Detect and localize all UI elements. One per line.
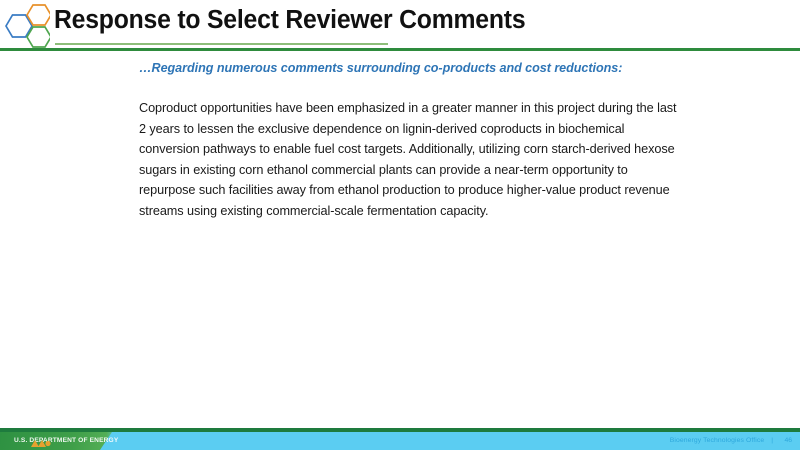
- bioenergy-hexagon-logo: [2, 3, 50, 49]
- slide-header: Response to Select Reviewer Comments: [0, 0, 800, 52]
- hexagon-green-icon: [27, 27, 50, 47]
- lead-statement: …Regarding numerous comments surrounding…: [139, 60, 684, 76]
- doe-seal-icon: [30, 436, 52, 447]
- page-title: Response to Select Reviewer Comments: [54, 6, 525, 35]
- footer-page-number: 46: [780, 437, 792, 444]
- slide: Response to Select Reviewer Comments …Re…: [0, 0, 800, 450]
- header-divider-rule: [0, 48, 800, 51]
- footer-right-group: Bioenergy Technologies Office | 46: [670, 437, 792, 444]
- title-underline: [55, 43, 388, 45]
- hexagon-orange-icon: [27, 5, 50, 25]
- slide-footer: U.S. DEPARTMENT OF ENERGY Bioenergy Tech…: [0, 428, 800, 450]
- slide-body: …Regarding numerous comments surrounding…: [139, 60, 684, 222]
- body-paragraph: Coproduct opportunities have been emphas…: [139, 98, 684, 222]
- footer-office-label: Bioenergy Technologies Office: [670, 437, 764, 444]
- footer-separator: |: [771, 437, 773, 444]
